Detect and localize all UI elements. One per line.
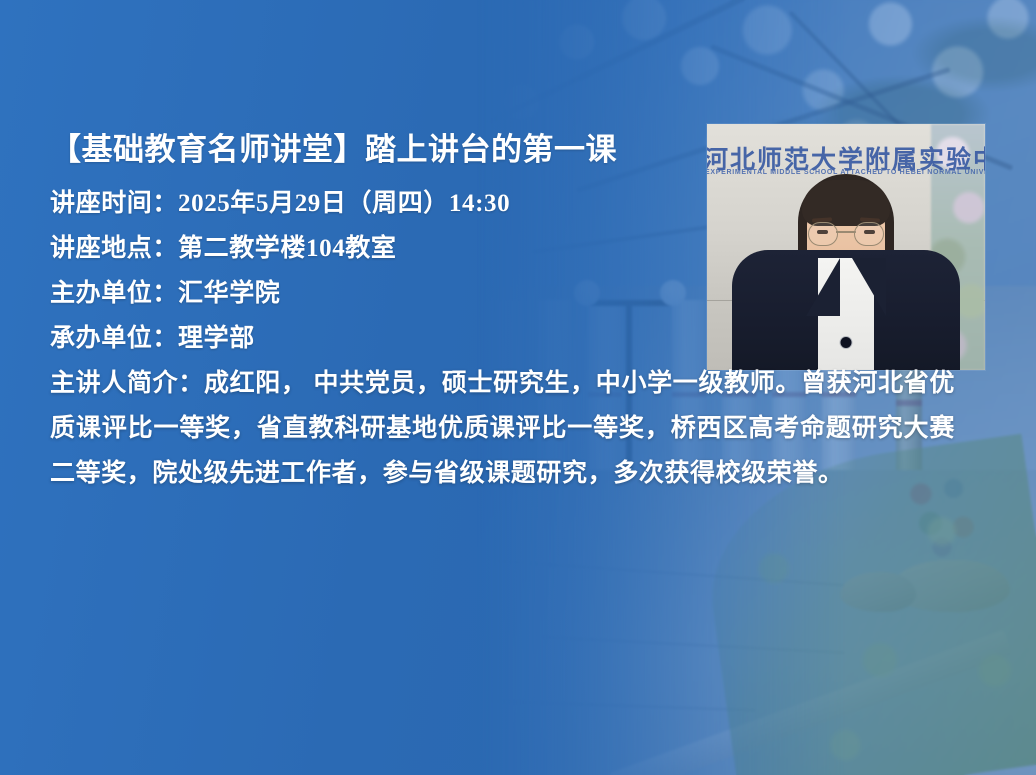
lecture-poster: 河北师范大学附属实验中学 EXPERIMENTAL MIDDLE SCHOOL …	[0, 0, 1036, 775]
info-line-organizer: 主办单位：汇华学院	[50, 271, 962, 316]
info-line-lecture-time: 讲座时间：2025年5月29日（周四）14:30	[50, 181, 962, 226]
info-line-lecture-venue: 讲座地点：第二教学楼104教室	[50, 226, 962, 271]
speaker-biography: 主讲人简介：成红阳， 中共党员，硕士研究生，中小学一级教师。曾获河北省优质课评比…	[50, 361, 955, 496]
page-title: 【基础教育名师讲堂】踏上讲台的第一课	[50, 128, 962, 172]
poster-text-content: 【基础教育名师讲堂】踏上讲台的第一课 讲座时间：2025年5月29日（周四）14…	[50, 128, 962, 496]
info-line-co-organizer: 承办单位：理学部	[50, 316, 962, 361]
